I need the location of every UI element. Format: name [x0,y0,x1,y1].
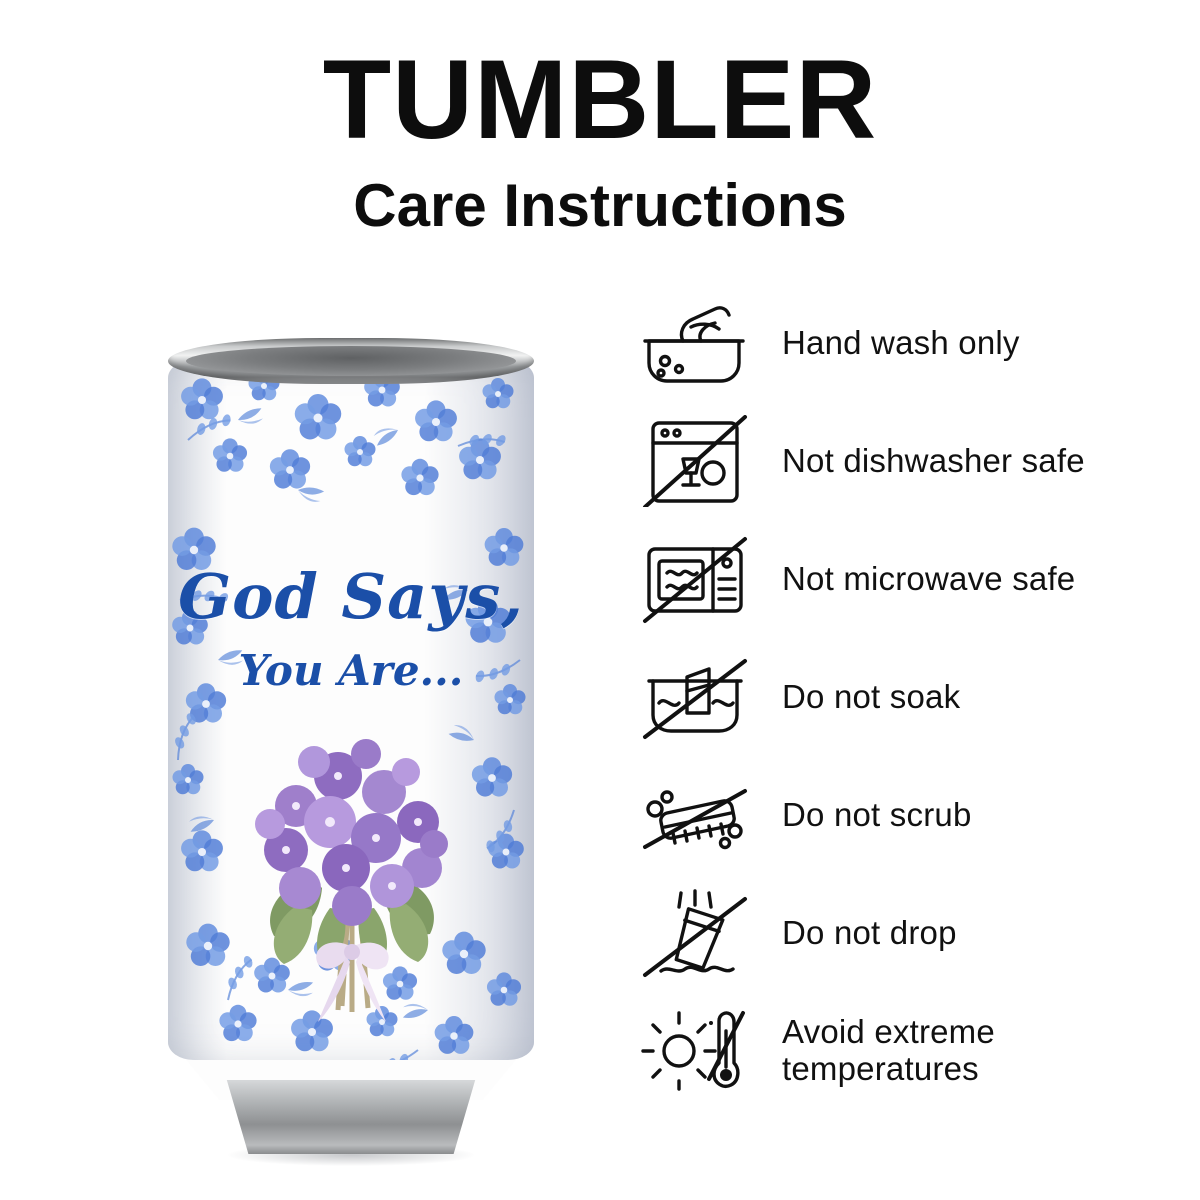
no-soak-icon [630,645,760,749]
care-row-avoid-extreme-temperatures: Avoid extreme temperatures [630,992,1190,1110]
care-row-do-not-scrub: Do not scrub [630,756,1190,874]
care-row-do-not-soak: Do not soak [630,638,1190,756]
care-label: Do not soak [760,679,960,716]
tumbler-product-image: God Says, You Are... [110,290,540,1160]
care-label: Not microwave safe [760,561,1075,598]
avoid-extreme-temps-icon [630,999,760,1103]
care-label: Do not scrub [760,797,972,834]
care-label: Do not drop [760,915,957,952]
page-subtitle: Care Instructions [0,176,1200,236]
care-row-not-microwave-safe: Not microwave safe [630,520,1190,638]
tumbler-metal-base [216,1080,486,1154]
tumbler-opening [186,346,516,376]
care-label: Hand wash only [760,325,1020,362]
care-row-hand-wash: Hand wash only [630,284,1190,402]
care-instructions-list: Hand wash only Not dishwasher safe [630,284,1190,1110]
tumbler-printed-wrap: God Says, You Are... [168,360,534,1060]
care-row-do-not-drop: Do not drop [630,874,1190,992]
no-scrub-icon [630,763,760,867]
tumbler-design-line-2: You Are... [168,646,534,695]
no-drop-icon [630,881,760,985]
hand-wash-icon [630,291,760,395]
care-row-not-dishwasher-safe: Not dishwasher safe [630,402,1190,520]
no-microwave-icon [630,527,760,631]
content-area: God Says, You Are... [0,262,1200,1200]
purple-bouquet-icon [226,710,476,1040]
care-label: Not dishwasher safe [760,443,1085,480]
tumbler-design-line-1: God Says, [168,560,534,633]
page-title: TUMBLER [0,44,1200,156]
care-label: Avoid extreme temperatures [760,1014,1190,1088]
page-header: TUMBLER Care Instructions [0,0,1200,236]
no-dishwasher-icon [630,409,760,513]
tumbler-body: God Says, You Are... [138,338,508,1138]
